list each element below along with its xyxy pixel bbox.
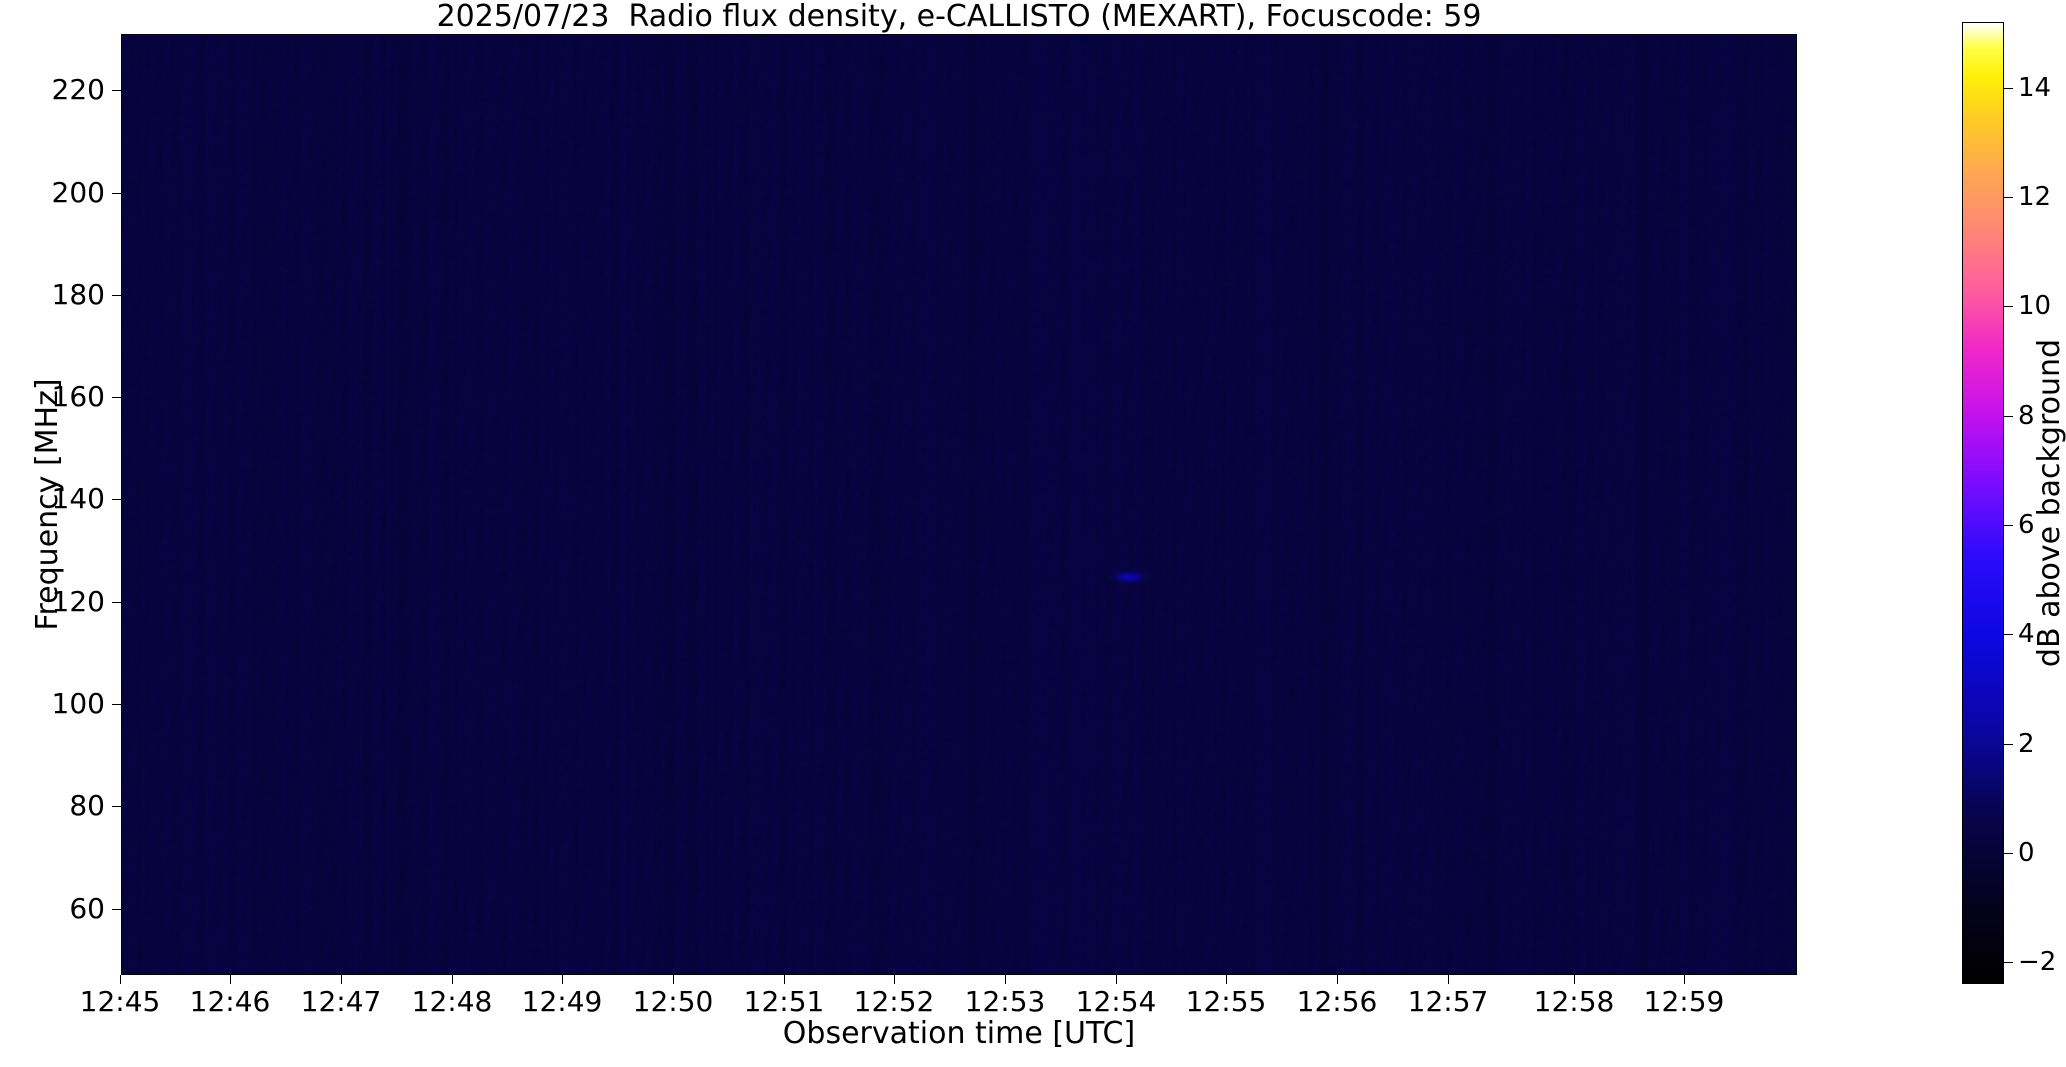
- y-tick-mark: [112, 295, 121, 296]
- x-tick-mark: [784, 975, 785, 984]
- x-tick-mark: [230, 975, 231, 984]
- x-tick-mark: [894, 975, 895, 984]
- x-tick-mark: [1226, 975, 1227, 984]
- x-tick-label: 12:55: [1186, 988, 1267, 1016]
- x-tick-mark: [1116, 975, 1117, 984]
- colorbar-tick-mark: [2004, 962, 2013, 963]
- y-tick-mark: [112, 499, 121, 500]
- colorbar-tick-mark: [2004, 416, 2013, 417]
- page-title: 2025/07/23 Radio flux density, e-CALLIST…: [121, 1, 1797, 33]
- colorbar-tick-mark: [2004, 525, 2013, 526]
- colorbar-tick-mark: [2004, 306, 2013, 307]
- x-tick-label: 12:53: [965, 988, 1046, 1016]
- x-tick-mark: [120, 975, 121, 984]
- x-tick-label: 12:49: [522, 988, 603, 1016]
- x-tick-mark: [1337, 975, 1338, 984]
- y-tick-mark: [112, 704, 121, 705]
- colorbar-tick-label: 0: [2018, 840, 2035, 866]
- x-tick-label: 12:59: [1644, 988, 1725, 1016]
- y-axis-label: Frequency [MHz]: [31, 34, 65, 975]
- colorbar[interactable]: [1962, 22, 2004, 984]
- x-tick-mark: [341, 975, 342, 984]
- colorbar-tick-mark: [2004, 853, 2013, 854]
- x-tick-label: 12:48: [412, 988, 493, 1016]
- x-tick-mark: [452, 975, 453, 984]
- x-tick-mark: [1005, 975, 1006, 984]
- y-tick-mark: [112, 909, 121, 910]
- x-tick-mark: [562, 975, 563, 984]
- x-axis-label: Observation time [UTC]: [121, 1018, 1797, 1050]
- x-tick-label: 12:52: [854, 988, 935, 1016]
- figure-canvas: 2025/07/23 Radio flux density, e-CALLIST…: [0, 0, 2066, 1067]
- colorbar-tick-mark: [2004, 744, 2013, 745]
- y-tick-label: 80: [69, 792, 105, 820]
- colorbar-tick-mark: [2004, 634, 2013, 635]
- x-tick-label: 12:56: [1297, 988, 1378, 1016]
- x-tick-label: 12:47: [301, 988, 382, 1016]
- x-tick-label: 12:50: [633, 988, 714, 1016]
- x-tick-label: 12:46: [190, 988, 271, 1016]
- spectrogram-image: [122, 35, 1796, 974]
- x-tick-label: 12:51: [744, 988, 825, 1016]
- y-tick-label: 60: [69, 895, 105, 923]
- y-tick-mark: [112, 90, 121, 91]
- x-tick-label: 12:54: [1076, 988, 1157, 1016]
- colorbar-tick-mark: [2004, 197, 2013, 198]
- y-tick-mark: [112, 602, 121, 603]
- y-tick-mark: [112, 806, 121, 807]
- x-tick-label: 12:58: [1534, 988, 1615, 1016]
- colorbar-label: dB above background: [2035, 22, 2065, 984]
- x-tick-mark: [1574, 975, 1575, 984]
- x-tick-mark: [673, 975, 674, 984]
- x-tick-mark: [1684, 975, 1685, 984]
- x-tick-label: 12:57: [1408, 988, 1489, 1016]
- colorbar-tick-mark: [2004, 88, 2013, 89]
- spectrogram-axes[interactable]: [121, 34, 1797, 975]
- x-tick-mark: [1448, 975, 1449, 984]
- colorbar-gradient: [1963, 23, 2003, 983]
- y-tick-mark: [112, 193, 121, 194]
- colorbar-tick-label: 2: [2018, 731, 2035, 757]
- y-tick-mark: [112, 397, 121, 398]
- x-tick-label: 12:45: [80, 988, 161, 1016]
